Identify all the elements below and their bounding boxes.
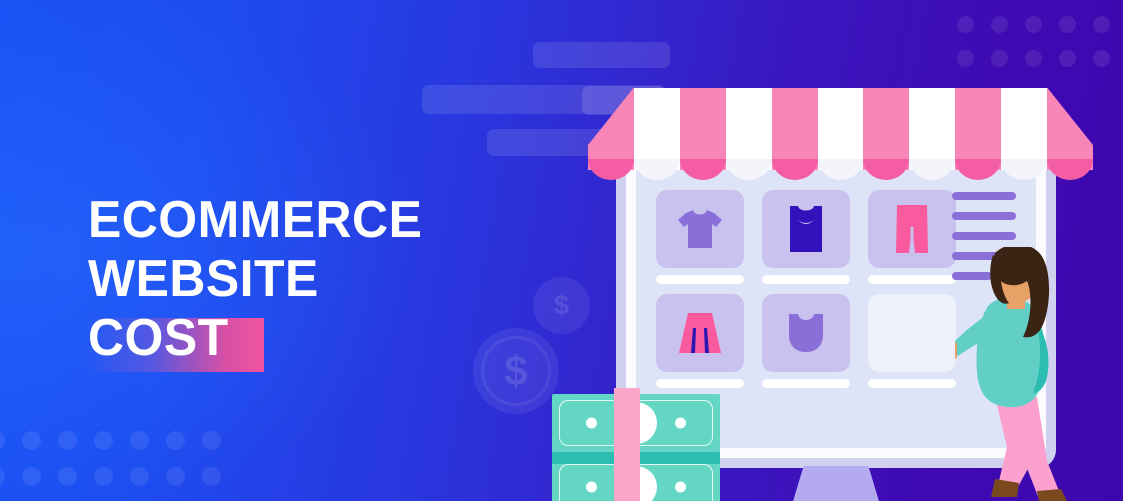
dot-grid-bottom-left [0, 431, 228, 493]
decor-dot [0, 431, 5, 450]
speed-bar [533, 42, 670, 68]
decor-dot [58, 467, 77, 486]
decor-dot [166, 467, 185, 486]
decor-dot [1059, 50, 1076, 67]
headline-line-3-wrapper: COST [88, 313, 234, 363]
awning-stripe-pink [1047, 88, 1093, 180]
decor-dot [130, 467, 149, 486]
t-shirt-icon [677, 208, 723, 250]
product-cell-tshirt[interactable] [656, 190, 744, 284]
product-cell-sweater[interactable] [868, 294, 956, 388]
product-row-2 [656, 294, 956, 388]
awning-stripe-white [818, 88, 864, 180]
awning-stripe-white [634, 88, 680, 180]
product-row-1 [656, 190, 956, 284]
product-card [762, 294, 850, 372]
awning-stripe-pink [588, 88, 634, 180]
product-card [656, 294, 744, 372]
hand-left [955, 341, 957, 362]
dollar-sign-glyph: $ [504, 347, 527, 395]
decor-dot [0, 467, 5, 486]
product-cell-pants[interactable] [868, 190, 956, 284]
decor-dot [202, 467, 221, 486]
decor-dot [94, 467, 113, 486]
product-card-empty [868, 294, 956, 372]
menu-item-bar[interactable] [952, 192, 1016, 200]
banknote-dot [586, 418, 597, 429]
headline-line-1: ECOMMERCE [88, 195, 422, 245]
dollar-coin-large-icon: $ [473, 328, 559, 414]
money-band [614, 388, 640, 501]
awning-stripe-white [726, 88, 772, 180]
product-label-bar [868, 379, 956, 388]
menu-item-bar[interactable] [952, 212, 1016, 220]
decor-dot [1059, 16, 1076, 33]
awning-stripe-pink [863, 88, 909, 180]
product-cell-skirt[interactable] [656, 294, 744, 388]
product-label-bar [762, 379, 850, 388]
decor-dot [957, 50, 974, 67]
awning-stripes [588, 88, 1093, 180]
skirt-icon [678, 312, 722, 354]
decor-dot [22, 467, 41, 486]
awning-stripe-pink [772, 88, 818, 180]
decor-dot [58, 431, 77, 450]
product-grid [656, 190, 956, 398]
product-card [868, 190, 956, 268]
headline-line-3: COST [88, 313, 229, 363]
decor-dot [1093, 50, 1110, 67]
page-title: ECOMMERCE WEBSITE COST [88, 195, 436, 363]
decor-dot [1025, 50, 1042, 67]
product-card [656, 190, 744, 268]
decor-dot [166, 431, 185, 450]
product-cell-tank-top[interactable] [762, 190, 850, 284]
dot-grid-top-right [957, 16, 1117, 74]
dollar-coin-small-icon: $ [533, 277, 590, 334]
product-label-bar [656, 275, 744, 284]
decor-dot [957, 16, 974, 33]
product-cell-crop-top[interactable] [762, 294, 850, 388]
decor-dot [202, 431, 221, 450]
monitor-stand-neck [791, 466, 881, 501]
banknote-dot [675, 482, 686, 493]
decor-dot [22, 431, 41, 450]
product-label-bar [868, 275, 956, 284]
money-stack [552, 394, 720, 501]
shoe-front [1037, 489, 1067, 501]
decor-dot [1093, 16, 1110, 33]
decor-dot [94, 431, 113, 450]
decor-dot [991, 50, 1008, 67]
pants-icon [895, 204, 929, 254]
tank-top-icon [786, 205, 826, 253]
awning-stripe-white [1001, 88, 1047, 180]
menu-item-bar[interactable] [952, 232, 1016, 240]
banknote-dot [675, 418, 686, 429]
awning-stripe-pink [680, 88, 726, 180]
product-label-bar [656, 379, 744, 388]
awning-mask [588, 88, 1093, 180]
awning-stripe-white [909, 88, 955, 180]
decor-dot [130, 431, 149, 450]
banknote-dot [586, 482, 597, 493]
ecommerce-website-cost-banner: $ $ ECOMMERCE WEBSITE COST [0, 0, 1123, 501]
woman-shopper-illustration [955, 247, 1085, 501]
awning-stripe-pink [955, 88, 1001, 180]
store-awning [588, 88, 1093, 180]
decor-dot [991, 16, 1008, 33]
product-card [762, 190, 850, 268]
dollar-sign-glyph: $ [554, 290, 569, 321]
product-label-bar [762, 275, 850, 284]
decor-dot [1025, 16, 1042, 33]
crop-top-icon [786, 313, 826, 353]
headline-line-2: WEBSITE [88, 254, 422, 304]
